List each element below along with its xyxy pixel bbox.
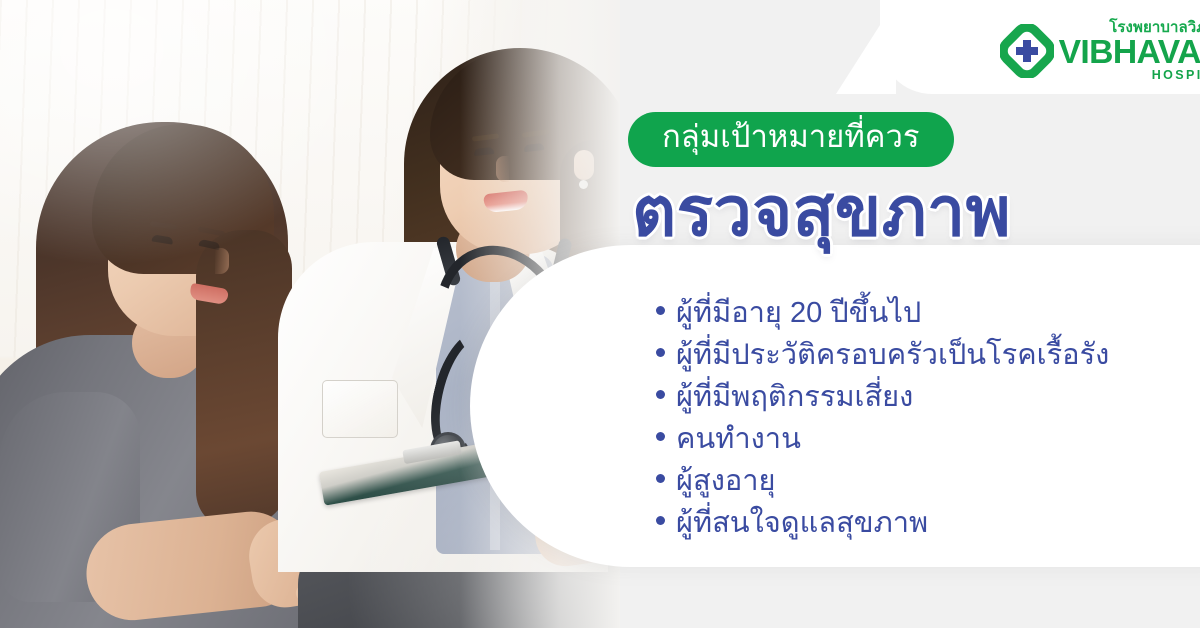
list-item-label: คนทำงาน bbox=[676, 418, 801, 460]
target-group-list: ผู้ที่มีอายุ 20 ปีขึ้นไป ผู้ที่มีประวัติ… bbox=[656, 292, 1109, 544]
bullet-dot-icon bbox=[656, 516, 665, 525]
logo-subtitle: HOSPITAL bbox=[1152, 69, 1200, 82]
vibhavadi-hospital-logo[interactable]: โรงพยาบาลวิภาวดี VIBHAVADI HOSPITAL bbox=[1000, 20, 1200, 82]
list-item-label: ผู้ที่สนใจดูแลสุขภาพ bbox=[676, 502, 928, 544]
list-item-label: ผู้ที่มีอายุ 20 ปีขึ้นไป bbox=[676, 292, 921, 334]
list-item: ผู้ที่สนใจดูแลสุขภาพ bbox=[656, 502, 1109, 544]
list-item: ผู้ที่มีพฤติกรรมเสี่ยง bbox=[656, 376, 1109, 418]
doctor-nose bbox=[496, 156, 509, 182]
list-item: คนทำงาน bbox=[656, 418, 1109, 460]
list-item: ผู้ที่มีประวัติครอบครัวเป็นโรคเรื้อรัง bbox=[656, 334, 1109, 376]
logo-wordmark: โรงพยาบาลวิภาวดี VIBHAVADI HOSPITAL bbox=[1062, 20, 1200, 82]
doctor-coat-pocket bbox=[322, 380, 398, 438]
list-item-label: ผู้ที่มีประวัติครอบครัวเป็นโรคเรื้อรัง bbox=[676, 334, 1109, 376]
bullet-dot-icon bbox=[656, 306, 665, 315]
bullet-dot-icon bbox=[656, 348, 665, 357]
green-diamond-medical-cross-icon bbox=[1000, 24, 1054, 78]
doctor-ear bbox=[574, 150, 594, 180]
patient-nose bbox=[215, 248, 229, 274]
bullet-dot-icon bbox=[656, 432, 665, 441]
bullet-dot-icon bbox=[656, 474, 665, 483]
logo-latin-name: VIBHAVADI bbox=[1059, 36, 1200, 67]
list-item: ผู้ที่มีอายุ 20 ปีขึ้นไป bbox=[656, 292, 1109, 334]
list-item-label: ผู้ที่มีพฤติกรรมเสี่ยง bbox=[676, 376, 913, 418]
page-title: ตรวจสุขภาพ bbox=[632, 178, 1011, 246]
bullet-dot-icon bbox=[656, 390, 665, 399]
target-group-badge: กลุ่มเป้าหมายที่ควร bbox=[628, 112, 954, 167]
health-checkup-banner: โรงพยาบาลวิภาวดี VIBHAVADI HOSPITAL กลุ่… bbox=[0, 0, 1200, 628]
list-item: ผู้สูงอายุ bbox=[656, 460, 1109, 502]
list-item-label: ผู้สูงอายุ bbox=[676, 460, 776, 502]
doctor-earring bbox=[579, 180, 588, 189]
